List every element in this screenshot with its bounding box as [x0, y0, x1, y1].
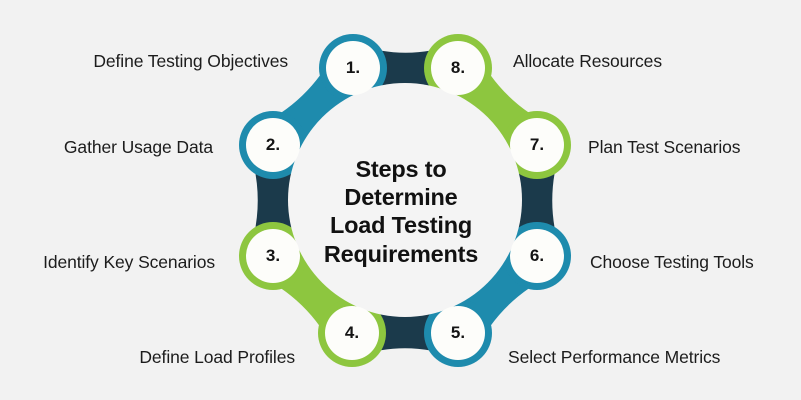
infographic-canvas: Steps toDetermineLoad TestingRequirement…: [0, 0, 801, 400]
step-node-8[interactable]: [431, 41, 485, 95]
step-label-5: Select Performance Metrics: [508, 349, 801, 367]
step-label-8: Allocate Resources: [513, 53, 801, 71]
step-label-3: Identify Key Scenarios: [0, 254, 215, 272]
step-node-4-disc[interactable]: [325, 306, 379, 360]
center-title-line-3: Load Testing: [275, 211, 527, 239]
step-label-4: Define Load Profiles: [0, 349, 295, 367]
step-label-7: Plan Test Scenarios: [588, 139, 801, 157]
step-label-2: Gather Usage Data: [0, 139, 213, 157]
step-node-1-disc[interactable]: [326, 41, 380, 95]
center-title-line-2: Determine: [275, 183, 527, 211]
step-node-5-disc[interactable]: [431, 306, 485, 360]
step-node-8-disc[interactable]: [431, 41, 485, 95]
center-title: Steps toDetermineLoad TestingRequirement…: [275, 155, 527, 268]
step-label-6: Choose Testing Tools: [590, 254, 801, 272]
step-node-4[interactable]: [325, 306, 379, 360]
step-node-5[interactable]: [431, 306, 485, 360]
step-node-1[interactable]: [326, 41, 380, 95]
center-title-line-1: Steps to: [275, 155, 527, 183]
center-title-line-4: Requirements: [275, 240, 527, 268]
step-label-1: Define Testing Objectives: [0, 53, 288, 71]
